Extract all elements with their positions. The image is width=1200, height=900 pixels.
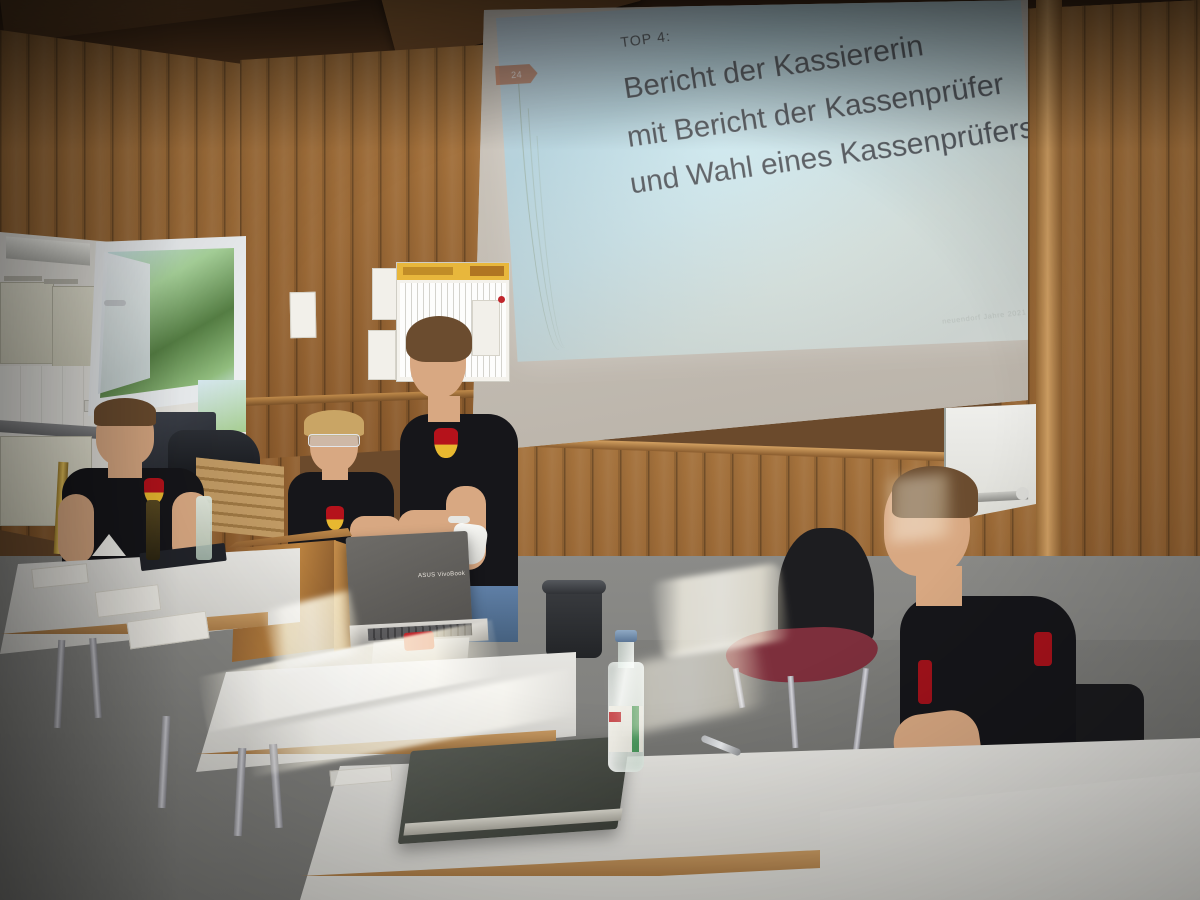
person-seated-woman-hair-front (304, 410, 364, 436)
window-handle (104, 300, 126, 306)
cabinet-label-2 (44, 279, 78, 284)
sunlight-patch-wall-right (883, 473, 955, 544)
notice-left-3 (368, 330, 396, 380)
calendar-logo (470, 266, 504, 276)
bottle-back-table-2 (196, 496, 212, 560)
laptop-lid[interactable] (346, 531, 473, 633)
cabinet-label-1 (4, 276, 42, 281)
kitchen-upper-cabinet-1 (0, 282, 54, 364)
person-seated-man-right-shoulder-emblem (1034, 632, 1052, 666)
window-sash-open (98, 250, 150, 394)
person-seated-man-left-arm-left (58, 494, 94, 564)
person-seated-man-left-hair (94, 398, 156, 426)
projected-slide: 24 TOP 4: Bericht der Kassiererin mit Be… (496, 0, 1043, 362)
notice-right-1 (472, 300, 500, 356)
kitchen-tiles (0, 366, 104, 428)
person-standing-woman-neck (428, 396, 460, 422)
person-standing-woman-wristband (448, 516, 470, 523)
bottle-back-table (146, 500, 160, 560)
waste-bin (546, 586, 602, 658)
waste-bin-lid (542, 580, 606, 594)
calendar-header-text (403, 267, 453, 275)
whiteboard-knob (1016, 487, 1029, 500)
water-bottle-cap[interactable] (615, 630, 637, 642)
person-seated-woman-glasses (308, 434, 360, 447)
photo-scene: 24 TOP 4: Bericht der Kassiererin mit Be… (0, 0, 1200, 900)
person-seated-man-right-chest-emblem (918, 660, 932, 704)
notice-left-2 (372, 268, 398, 320)
notice-red-dot (498, 296, 505, 303)
projection-screen: 24 TOP 4: Bericht der Kassiererin mit Be… (466, 0, 1028, 452)
notice-left-1 (290, 292, 317, 338)
person-standing-woman-hair (406, 316, 472, 362)
